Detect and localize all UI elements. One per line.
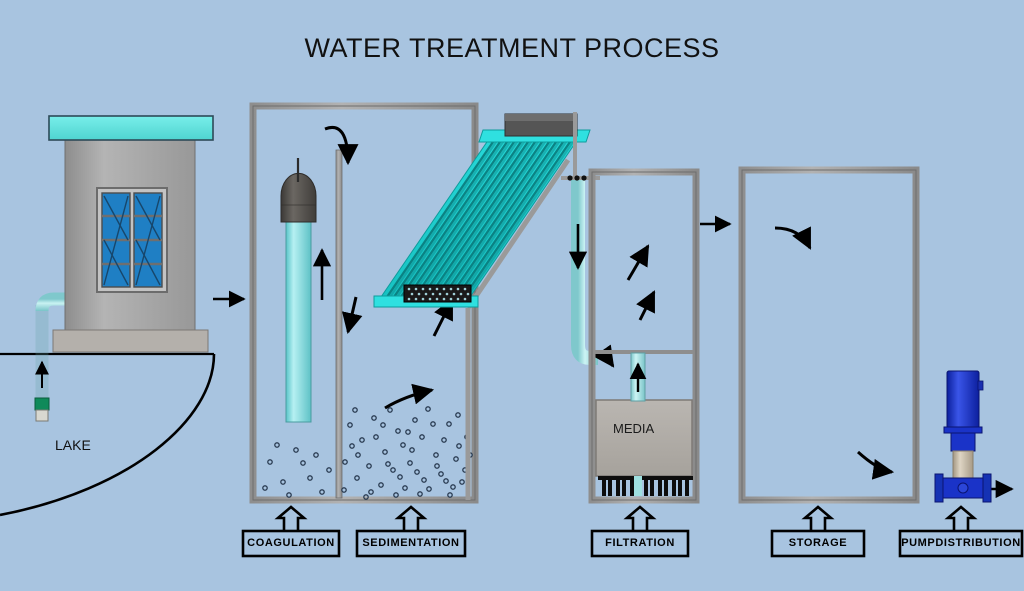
pump-motor-flange <box>944 427 982 433</box>
lake-group <box>0 354 214 515</box>
pump-house-roof <box>49 116 213 140</box>
pump-flange-left <box>935 474 943 502</box>
callout-arrow-sedimentation <box>398 507 424 531</box>
stage-label-pumpdistribution: PUMPDISTRIBUTION <box>900 537 1022 549</box>
stage-label-filtration: FILTRATION <box>592 537 688 549</box>
intake-elbow <box>42 299 66 311</box>
settler-launder-box-top <box>505 114 577 121</box>
pump-coupling <box>951 433 975 451</box>
foot-valve-strainer <box>36 410 48 421</box>
underdrain-center-gap <box>634 476 642 496</box>
distribution-pump <box>935 371 991 502</box>
lake-shoreline <box>0 354 214 515</box>
foot-valve-body <box>35 398 49 410</box>
storage-wall <box>742 170 916 500</box>
downcomer-flange <box>567 175 586 180</box>
stage-label-coagulation: COAGULATION <box>243 537 339 549</box>
callout-arrow-coagulation <box>278 507 304 531</box>
flow-arrow-storage-out <box>858 452 892 472</box>
tank1-baffle <box>336 150 342 498</box>
water-treatment-diagram: WATER TREATMENT PROCESS <box>0 0 1024 591</box>
flow-arrow-coag-down <box>348 297 356 332</box>
pump-house-window <box>97 188 167 292</box>
mixer-cylinder <box>286 222 311 422</box>
storage-tank <box>742 170 916 500</box>
pump-valve-hub <box>958 483 968 493</box>
pump-house <box>49 116 213 352</box>
filter-media-bed <box>596 400 692 476</box>
lake-label: LAKE <box>55 437 91 453</box>
callout-arrow-storage <box>805 507 831 531</box>
pump-terminal-box <box>978 381 983 390</box>
flow-arrow-filter-mid <box>628 246 648 280</box>
filtration-tank <box>592 172 696 500</box>
pump-flange-right <box>983 474 991 502</box>
flow-arrow-storage-in <box>775 228 810 248</box>
lake-intake-pipe <box>35 299 66 421</box>
filter-underdrain-nozzles <box>598 476 693 496</box>
pump-house-base <box>53 330 208 352</box>
flow-arrow-sed-sweep <box>385 390 432 408</box>
media-label: MEDIA <box>613 421 654 436</box>
pump-motor <box>947 371 979 428</box>
inclined-tube-settler <box>374 114 590 500</box>
flow-arrow-filter-low <box>640 292 654 320</box>
diagram-canvas <box>0 0 1024 591</box>
storage-wall-outline <box>742 170 916 500</box>
callout-arrow-pumpdistribution <box>948 507 974 531</box>
callout-arrow-filtration <box>627 507 653 531</box>
stage-label-sedimentation: SEDIMENTATION <box>357 537 465 549</box>
stage-label-storage: STORAGE <box>772 537 864 549</box>
coagulation-mixer <box>281 158 316 422</box>
